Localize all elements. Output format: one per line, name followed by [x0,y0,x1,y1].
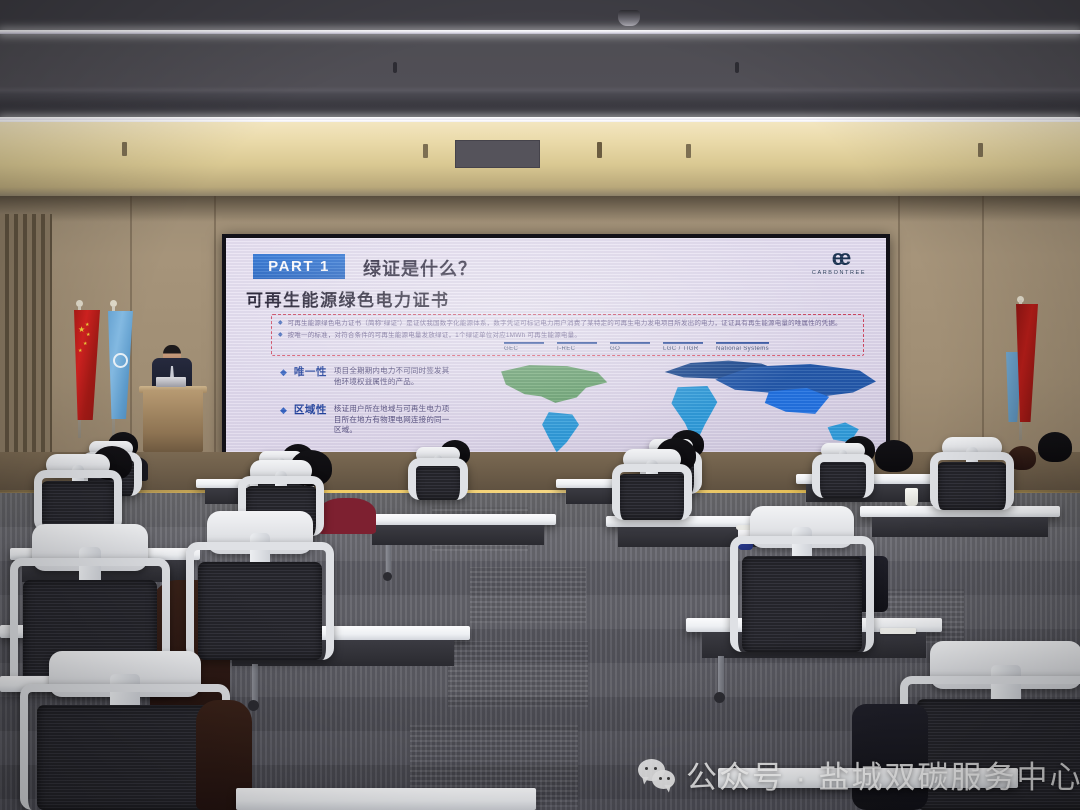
attendee-shoulders [318,498,376,534]
carpet-tile [470,567,586,623]
desk [360,514,556,525]
slide-part-label: PART 1 [268,258,330,275]
slide-point-desc: 核证用户所在地域与可再生电力项目所在地方有物理电网连接的同一区域。 [334,404,452,436]
slide-subtitle: 可再生能源绿色电力证书 [246,286,450,311]
un-emblem-icon [113,353,128,368]
chair [612,464,692,520]
chair-frame [408,458,468,500]
chair [34,470,122,532]
logo-bar [504,342,544,344]
partner-logo-name: GO [610,346,650,352]
partner-logo-name: GEC [504,346,544,352]
wall-seam [214,196,216,486]
partner-logo: GO [610,342,650,352]
attendee-head [1038,432,1072,462]
slide-point-uniqueness: ◆ 唯一性 项目全期期内电力不可同时签发其他环境权益属性的产品。 [280,366,452,387]
wechat-icon [638,759,676,791]
slide-point-desc: 项目全期期内电力不可同时签发其他环境权益属性的产品。 [334,366,452,387]
watermark: 公众号 · 盐城双碳服务中心 [638,752,1080,797]
logo-bar [610,342,650,344]
map-region-north-america [494,364,612,418]
highlight-bullet-text: 按唯一的标准，对符合条件的可再生能源电量发放绿证，1个绿证单位对应1MWh 可再… [288,331,581,340]
wall-slat-panel [0,214,52,452]
partner-logo-name: LGC / TIGR [663,346,703,352]
ceiling-speaker-icon [735,62,739,73]
ceiling-speaker-icon [393,62,397,73]
desk-caster [714,692,725,703]
carbontree-logo-word: CARBONTREE [808,270,870,276]
bullet-diamond-icon: ◆ [280,404,287,436]
partner-logo: National Systems [716,342,769,352]
logo-bar [557,342,597,344]
paper-cup [905,488,918,506]
bullet-diamond-icon: ◆ [280,366,287,387]
desk-leg [252,664,258,702]
ceiling-upper-panel [0,0,1080,30]
desk-leg [386,545,391,573]
bullet-diamond-icon: ◆ [278,319,283,328]
carbontree-logo: ee CARBONTREE [808,246,870,286]
slide-point-label: 唯一性 [294,366,327,387]
ceiling-fitting [597,142,602,158]
ceiling-fitting [686,144,691,158]
logo-bar [663,342,703,344]
slide-part-badge: PART 1 [253,254,345,279]
ceiling [0,0,1080,196]
desk-caster [383,572,392,581]
chair [186,542,334,660]
laptop-icon [156,377,186,387]
warm-ceiling-band [0,122,1080,196]
wechat-eye [667,777,670,780]
smoke-detector-icon [618,10,640,26]
bullet-diamond-icon: ◆ [278,331,283,340]
desk-leg [718,656,724,694]
paper-sheet [880,628,916,634]
presentation-screen-frame: PART 1 绿证是什么？ 可再生能源绿色电力证书 ee CARBONTREE … [222,234,890,458]
highlight-bullet: ◆ 按唯一的标准，对符合条件的可再生能源电量发放绿证，1个绿证单位对应1MWh … [278,331,857,340]
wechat-bubble-small [652,770,675,789]
chair-frame [34,470,122,532]
highlight-bullet-text: 可再生能源绿色电力证书（简称“绿证”）是证伏我国数字化能源体系，数字凭证可标记电… [288,319,842,328]
slide-point-label: 区域性 [294,404,327,436]
desk [236,788,536,810]
screenshot-root: ★ ★ ★ ★ ★ PART 1 绿证是什么？ 可再生能源绿色电力证书 ee C… [0,0,1080,810]
chair [812,454,874,498]
partner-logo: I-REC [557,342,597,352]
chair-frame [930,452,1014,510]
ceiling-fitting [423,144,428,158]
attendee-head [875,440,913,472]
partner-logo: LGC / TIGR [663,342,703,352]
wechat-eye [659,777,662,780]
chair-frame [186,542,334,660]
chair-frame [612,464,692,520]
carpet-tile [448,641,588,707]
presentation-screen[interactable]: PART 1 绿证是什么？ 可再生能源绿色电力证书 ee CARBONTREE … [226,238,886,453]
desk-underframe [872,517,1048,537]
partner-logo-name: National Systems [716,346,769,352]
chair-frame [730,536,874,652]
desk-underframe [372,525,544,545]
partner-logo: GEC [504,342,544,352]
partner-logo-name: I-REC [557,346,597,352]
highlight-bullet: ◆ 可再生能源绿色电力证书（简称“绿证”）是证伏我国数字化能源体系，数字凭证可标… [278,319,857,328]
wall-shadow [0,196,1080,222]
logo-bar [716,342,769,344]
chair [930,452,1014,510]
map-region-south-america [532,412,588,453]
podium [143,390,203,452]
chair [730,536,874,652]
ceiling-led-strip-1 [0,30,1080,34]
partner-logo-strip: GEC I-REC GO LGC / TIGR National Systems [504,342,834,352]
chair [408,458,468,500]
slide-point-regionality: ◆ 区域性 核证用户所在地域与可再生电力项目所在地方有物理电网连接的同一区域。 [280,404,452,436]
ceiling-fitting [978,143,983,157]
carbontree-logo-mark: ee [808,246,870,270]
desk-caster [248,700,259,711]
air-vent [455,140,540,168]
chair-frame [812,454,874,498]
watermark-text: 公众号 · 盐城双碳服务中心 [686,752,1080,797]
ceiling-fitting [122,142,127,156]
slide-title: 绿证是什么？ [363,255,477,281]
